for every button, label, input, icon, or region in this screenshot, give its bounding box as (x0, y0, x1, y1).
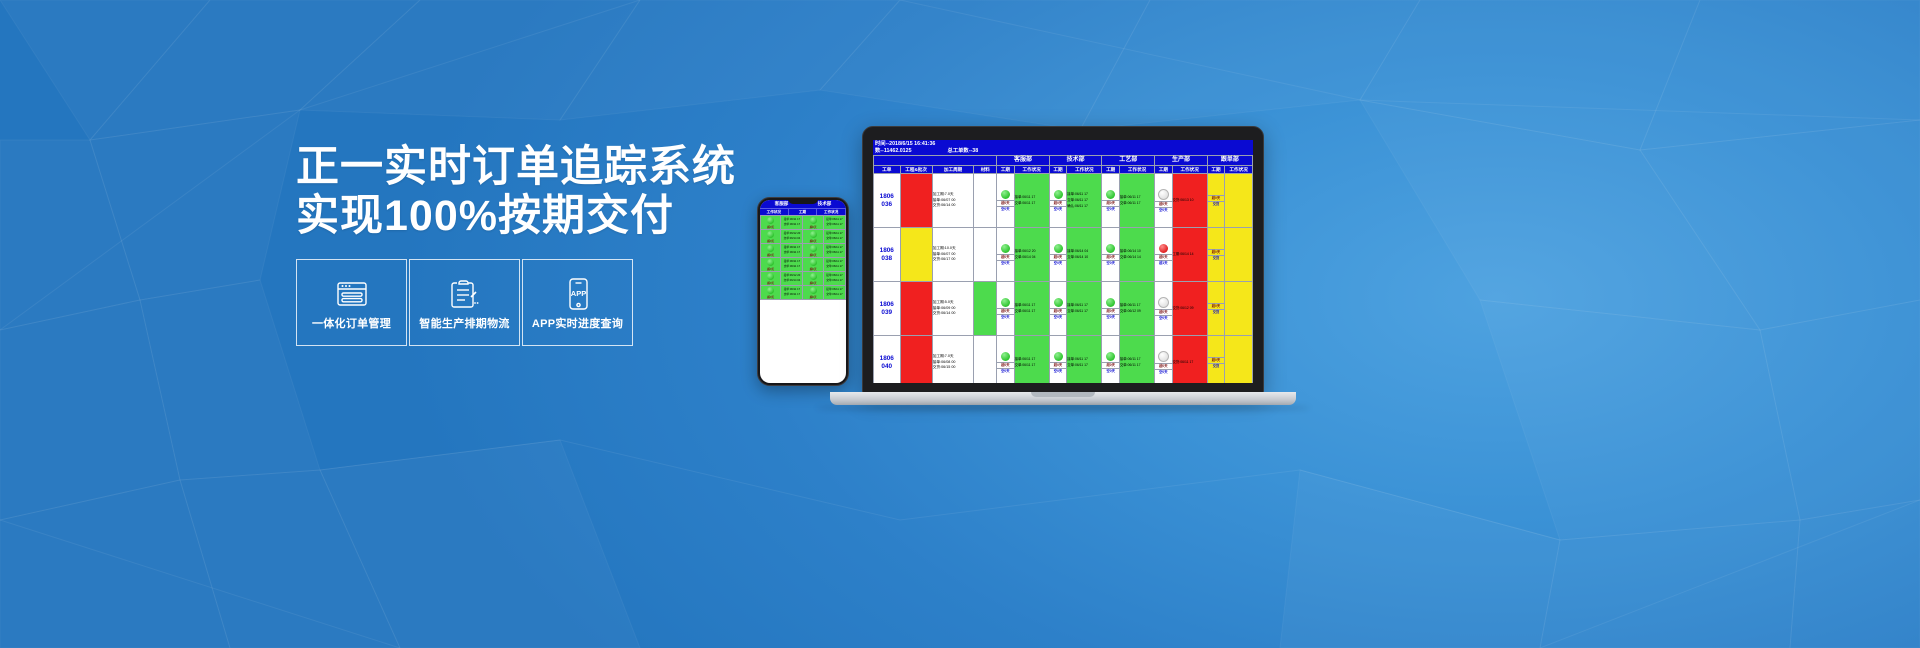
status-dot-green-icon (810, 273, 817, 280)
status-dot-green-icon (767, 273, 774, 280)
dept-status-cell-technical: 超0天 空0天 (1049, 228, 1066, 282)
laptop-screen[interactable]: 时间--2018/6/15 16:41:36 数--11462.0125 总工单… (873, 140, 1253, 383)
dept-status-cell-process: 超0天 空0天 (1102, 228, 1119, 282)
status-dot-green-icon (767, 259, 774, 266)
phone-badge: 超0天 (803, 295, 822, 299)
dept-status-cell-customer-service: 超0天 空0天 (997, 228, 1014, 282)
project-batch-cell (900, 282, 932, 336)
status-dot-white-icon (1158, 297, 1169, 308)
cycle-cell: 加工期:5.0天 接单:06/09 00 交货:06/14 00 (932, 282, 974, 336)
page-title: 正一实时订单追踪系统 实现100%按期交付 (296, 143, 716, 241)
dept-info-cell-production: 工期:06/14 14 (1172, 228, 1207, 282)
feature-item-app-tracking[interactable]: APP APP实时进度查询 (522, 259, 633, 346)
dept-info-cell-process: 接单:06/14 10 交单:06/14 14 (1119, 228, 1154, 282)
table-row[interactable]: 超0天 接单:06/12 20 交单:06/14 04 超0天 接单:06/11… (761, 272, 846, 286)
cycle-cell: 加工期:10.0天 接单:06/07 00 交货:06/17 00 (932, 228, 974, 282)
feature-label: 一体化订单管理 (312, 315, 391, 331)
phone-status-dot-cell: 超0天 (761, 244, 781, 258)
phone-col-1: 工期 (789, 209, 818, 215)
phone-badge: 超0天 (803, 253, 822, 257)
phone-status-dot-cell: 超0天 (761, 230, 781, 244)
phone-badge: 超0天 (803, 239, 822, 243)
dept-info-cell-customer-service: 接单:06/11 17 交单:06/11 17 (1014, 282, 1049, 336)
status-dot-red-icon (1159, 244, 1168, 253)
svg-text:APP: APP (570, 289, 585, 298)
dept-info-cell-customer-service: 接单:06/11 17 交单:06/11 17 (1014, 174, 1049, 228)
status-dot-green-icon (810, 217, 817, 224)
mobile-app-icon: APP (565, 275, 591, 313)
header-total-orders: 总工单数--38 (948, 148, 979, 154)
clipboard-icon (450, 275, 480, 313)
status-dot-green-icon (1001, 298, 1010, 307)
laptop-device: 时间--2018/6/15 16:41:36 数--11462.0125 总工单… (862, 126, 1314, 420)
status-dot-green-icon (1106, 244, 1115, 253)
banner-stage: 正一实时订单追踪系统 实现100%按期交付 一体化订单管理 (0, 0, 1920, 648)
phone-badge: 超0天 (803, 225, 822, 229)
col-material: 材料 (974, 166, 997, 174)
phone-info-cell: 接单:06/11 17 交单:06/11 17 (781, 286, 803, 300)
headline-line-1: 正一实时订单追踪系统 (296, 143, 736, 191)
dept-info-cell-production: 交货:06/11 17 (1172, 336, 1207, 383)
phone-info-cell: 接单:06/11 17 交单:06/11 17 (823, 258, 845, 272)
laptop-lid: 时间--2018/6/15 16:41:36 数--11462.0125 总工单… (862, 126, 1264, 394)
table-row[interactable]: 1806 039 加工期:5.0天 接单:06/09 00 交货:06/14 0… (874, 282, 1253, 336)
phone-info-cell: 接单:06/11 17 交单:06/11 17 (823, 216, 845, 230)
phone-badge: 超0天 (761, 295, 780, 299)
department-header-row: 客服部 技术部 工艺部 生产部 跟单部 (874, 156, 1253, 166)
col-project-batch: 工程&批次 (900, 166, 932, 174)
laptop-shadow (816, 405, 1310, 411)
phone-status-dot-cell: 超0天 (803, 272, 823, 286)
dept-status-cell-production: 超0天 空0天 (1155, 174, 1172, 228)
phone-status-table: 超0天 接单:06/11 17 交单:06/11 17 超0天 接单:06/11… (760, 215, 846, 300)
status-dot-green-icon (1106, 190, 1115, 199)
dept-info-cell-followup (1225, 336, 1253, 383)
cycle-cell: 加工期:7.0天 接单:06/07 00 交货:06/14 00 (932, 174, 974, 228)
order-table: 客服部 技术部 工艺部 生产部 跟单部 工单 工程&批次 加工周期 材料 工期 (873, 155, 1253, 383)
status-dot-green-icon (767, 245, 774, 252)
status-dot-green-icon (810, 245, 817, 252)
phone-screen[interactable]: 客服部 技术部 工作状况 工期 工作状况 超0天 接单:06/11 17 交单:… (760, 200, 846, 383)
col-duration: 工期 (1049, 166, 1066, 174)
phone-info-cell: 接单:06/11 17 交单:06/11 17 (781, 244, 803, 258)
phone-badge: 超0天 (761, 267, 780, 271)
status-dot-white-icon (1158, 351, 1169, 362)
dept-status-cell-technical: 超0天 空0天 (1049, 282, 1066, 336)
dept-info-cell-customer-service: 接单:06/11 17 交单:06/11 17 (1014, 336, 1049, 383)
phone-badge: 超0天 (803, 267, 822, 271)
phone-badge: 超0天 (761, 281, 780, 285)
dept-info-cell-process: 接单:06/11 17 交单:06/11 17 (1119, 174, 1154, 228)
phone-status-dot-cell: 超0天 (803, 230, 823, 244)
laptop-base (830, 392, 1296, 405)
feature-list: 一体化订单管理 智能生产排期物流 (296, 259, 633, 346)
phone-badge: 超0天 (761, 239, 780, 243)
feature-item-order-management[interactable]: 一体化订单管理 (296, 259, 407, 346)
work-order-number: 1806 036 (874, 174, 901, 228)
dept-status-cell-production: 超0天 空0天 (1155, 282, 1172, 336)
table-row[interactable]: 1806 038 加工期:10.0天 接单:06/07 00 交货:06/17 … (874, 228, 1253, 282)
phone-info-cell: 接单:06/12 20 交单:06/14 04 (781, 272, 803, 286)
col-status: 工作状况 (1119, 166, 1154, 174)
col-status: 工作状况 (1014, 166, 1049, 174)
work-order-number: 1806 039 (874, 282, 901, 336)
order-card-icon (335, 275, 369, 313)
table-row[interactable]: 超0天 接单:06/12 20 交单:06/14 04 超0天 接单:06/11… (761, 230, 846, 244)
project-batch-cell (900, 228, 932, 282)
phone-status-dot-cell: 超0天 (803, 258, 823, 272)
status-dot-green-icon (1106, 352, 1115, 361)
status-dot-green-icon (1106, 298, 1115, 307)
status-dot-green-icon (1001, 352, 1010, 361)
table-row[interactable]: 超0天 接单:06/11 17 交单:06/11 17 超0天 接单:06/11… (761, 216, 846, 230)
department-header-customer-service: 客服部 (997, 156, 1050, 166)
phone-status-dot-cell: 超0天 (803, 244, 823, 258)
col-work-order: 工单 (874, 166, 901, 174)
dept-status-cell-production: 超0天 超1天 (1155, 228, 1172, 282)
phone-badge: 超0天 (803, 281, 822, 285)
table-row[interactable]: 超0天 接单:06/11 17 交单:06/11 17 超0天 接单:06/11… (761, 258, 846, 272)
phone-info-cell: 接单:06/11 17 交单:06/11 17 (823, 230, 845, 244)
col-status: 工作状况 (1172, 166, 1207, 174)
material-cell (974, 174, 997, 228)
dept-info-cell-followup (1225, 228, 1253, 282)
dept-status-cell-process: 超0天 空0天 (1102, 336, 1119, 383)
dept-info-cell-process: 接单:06/11 17 交单:06/12 09 (1119, 282, 1154, 336)
phone-badge: 超0天 (761, 225, 780, 229)
dept-status-cell-followup: 超0天 交货 (1207, 282, 1224, 336)
dept-status-cell-customer-service: 超0天 空0天 (997, 174, 1014, 228)
phone-status-dot-cell: 超0天 (803, 286, 823, 300)
status-dot-green-icon (767, 287, 774, 294)
phone-info-cell: 接单:06/11 17 交单:06/11 17 (781, 258, 803, 272)
department-header-production: 生产部 (1155, 156, 1208, 166)
dept-info-cell-technical: 接单:06/11 17 交单:06/11 17 确认:06/11 17 (1067, 174, 1102, 228)
work-order-number: 1806 038 (874, 228, 901, 282)
col-duration: 工期 (997, 166, 1014, 174)
dept-info-cell-followup (1225, 174, 1253, 228)
dept-info-cell-customer-service: 接单:06/12 20 交单:06/14 04 (1014, 228, 1049, 282)
phone-col-0: 工作状况 (760, 209, 789, 215)
col-cycle: 加工周期 (932, 166, 974, 174)
header-count: 数--11462.0125 (875, 148, 912, 154)
status-dot-green-icon (810, 259, 817, 266)
dept-info-cell-followup (1225, 282, 1253, 336)
phone-status-dot-cell: 超0天 (761, 286, 781, 300)
phone-status-dot-cell: 超0天 (761, 258, 781, 272)
status-dot-white-icon (1158, 189, 1169, 200)
headline-block: 正一实时订单追踪系统 实现100%按期交付 (296, 143, 716, 241)
status-dot-green-icon (1001, 190, 1010, 199)
table-row[interactable]: 超0天 接单:06/11 17 交单:06/11 17 超0天 接单:06/11… (761, 244, 846, 258)
dept-info-cell-production: 交货:06/13 10 (1172, 174, 1207, 228)
dept-info-cell-process: 接单:06/11 17 交单:06/11 17 (1119, 336, 1154, 383)
status-dot-green-icon (1054, 298, 1063, 307)
cycle-cell: 加工期:7.0天 接单:06/08 00 交货:06/15 00 (932, 336, 974, 383)
order-tracking-dashboard: 时间--2018/6/15 16:41:36 数--11462.0125 总工单… (873, 140, 1253, 383)
status-dot-green-icon (810, 231, 817, 238)
phone-badge: 超0天 (761, 253, 780, 257)
status-dot-green-icon (1054, 352, 1063, 361)
dept-status-cell-customer-service: 超0天 空0天 (997, 282, 1014, 336)
status-dot-green-icon (1054, 190, 1063, 199)
phone-info-cell: 接单:06/12 20 交单:06/14 04 (781, 230, 803, 244)
department-header-followup: 跟单部 (1207, 156, 1252, 166)
dept-status-cell-technical: 超0天 空0天 (1049, 174, 1066, 228)
table-row[interactable]: 超0天 接单:06/11 17 交单:06/11 17 超0天 接单:06/11… (761, 286, 846, 300)
headline-line-2: 实现100%按期交付 (296, 192, 716, 241)
phone-status-dot-cell: 超0天 (761, 216, 781, 230)
col-duration: 工期 (1102, 166, 1119, 174)
col-status: 工作状况 (1225, 166, 1253, 174)
col-duration: 工期 (1155, 166, 1172, 174)
project-batch-cell (900, 174, 932, 228)
status-dot-green-icon (810, 287, 817, 294)
phone-column-header: 工作状况 工期 工作状况 (760, 208, 846, 215)
material-cell (974, 282, 997, 336)
phone-info-cell: 接单:06/11 17 交单:06/11 17 (823, 286, 845, 300)
table-row[interactable]: 1806 036 加工期:7.0天 接单:06/07 00 交货:06/14 0… (874, 174, 1253, 228)
table-row[interactable]: 1806 040 加工期:7.0天 接单:06/08 00 交货:06/15 0… (874, 336, 1253, 383)
feature-label: 智能生产排期物流 (419, 315, 509, 331)
dept-info-cell-production: 交货:06/12 09 (1172, 282, 1207, 336)
smartphone-device: 客服部 技术部 工作状况 工期 工作状况 超0天 接单:06/11 17 交单:… (757, 197, 849, 386)
work-order-number: 1806 040 (874, 336, 901, 383)
phone-status-dot-cell: 超0天 (761, 272, 781, 286)
dept-status-cell-process: 超0天 空0天 (1102, 282, 1119, 336)
dashboard-header: 时间--2018/6/15 16:41:36 数--11462.0125 总工单… (873, 140, 1253, 155)
dept-status-cell-followup: 超0天 交货 (1207, 228, 1224, 282)
department-header-process: 工艺部 (1102, 156, 1155, 166)
material-cell (974, 336, 997, 383)
phone-info-cell: 接单:06/11 17 交单:06/11 17 (823, 244, 845, 258)
phone-info-cell: 接单:06/11 17 交单:06/11 17 (781, 216, 803, 230)
col-status: 工作状况 (1067, 166, 1102, 174)
feature-label: APP实时进度查询 (532, 315, 623, 331)
feature-item-smart-scheduling[interactable]: 智能生产排期物流 (409, 259, 520, 346)
status-dot-green-icon (767, 217, 774, 224)
col-duration: 工期 (1207, 166, 1224, 174)
dept-info-cell-technical: 接单:06/14 04 交单:06/14 10 (1067, 228, 1102, 282)
dept-info-cell-technical: 接单:06/11 17 交单:06/11 17 (1067, 336, 1102, 383)
dept-status-cell-followup: 超0天 交货 (1207, 174, 1224, 228)
column-header-row: 工单 工程&批次 加工周期 材料 工期 工作状况 工期 工作状况 工期 工作状况… (874, 166, 1253, 174)
phone-col-2: 工作状况 (817, 209, 846, 215)
project-batch-cell (900, 336, 932, 383)
department-header-technical: 技术部 (1049, 156, 1102, 166)
phone-info-cell: 接单:06/11 17 交单:06/11 17 (823, 272, 845, 286)
status-dot-green-icon (1054, 244, 1063, 253)
dept-status-cell-production: 超0天 空0天 (1155, 336, 1172, 383)
status-dot-green-icon (767, 231, 774, 238)
material-cell (974, 228, 997, 282)
header-time: 时间--2018/6/15 16:41:36 (875, 141, 935, 147)
dept-info-cell-technical: 接单:06/11 17 交单:06/11 17 (1067, 282, 1102, 336)
dept-status-cell-process: 超0天 空0天 (1102, 174, 1119, 228)
dept-status-cell-technical: 超0天 空0天 (1049, 336, 1066, 383)
phone-notch (788, 199, 818, 204)
phone-status-dot-cell: 超0天 (803, 216, 823, 230)
status-dot-green-icon (1001, 244, 1010, 253)
dept-status-cell-customer-service: 超0天 空0天 (997, 336, 1014, 383)
dept-status-cell-followup: 超0天 交货 (1207, 336, 1224, 383)
